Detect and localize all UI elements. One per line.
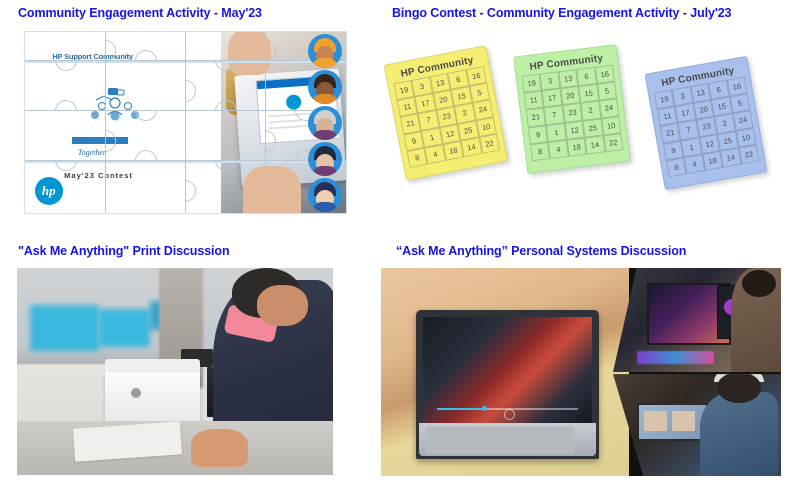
avatar-bearded-man [308, 70, 342, 104]
panel-ask-me-anything-personal-systems: “Ask Me Anything” Personal Systems Discu… [396, 244, 686, 258]
bingo-card-yellow: HP Community 19 3 13 6 16 11 17 20 15 5 … [384, 45, 509, 181]
avatar-dark-bob-woman [308, 178, 342, 212]
bingo-grid: 19 3 13 6 16 11 17 20 15 5 21 7 23 2 24 … [393, 66, 500, 168]
slide-canvas: Community Engagement Activity - May'23 H… [0, 0, 800, 485]
bingo-cell: 22 [603, 133, 623, 152]
bingo-cell: 18 [566, 137, 586, 156]
video-call-monitor [637, 403, 708, 442]
avatar-orange-headscarf [308, 34, 342, 68]
office-partition [30, 305, 100, 351]
panel-ask-me-anything-print: "Ask Me Anything" Print Discussion [18, 244, 230, 258]
video-call-photo [613, 374, 781, 476]
panel-title-print: "Ask Me Anything" Print Discussion [18, 244, 230, 258]
gaming-setup-photo [613, 268, 781, 372]
bingo-card-blue: HP Community 19 3 13 6 16 11 17 20 15 5 … [645, 56, 768, 190]
panel-title-may23: Community Engagement Activity - May'23 [18, 6, 262, 20]
person-face [257, 285, 308, 326]
printer-hp-logo-icon [131, 388, 141, 398]
bingo-cell: 22 [479, 133, 500, 153]
hp-laptop [416, 310, 600, 460]
bingo-cards-group: HP Community 19 3 13 6 16 11 17 20 15 5 … [392, 34, 792, 214]
panel-bingo-contest-july23: Bingo Contest - Community Engagement Act… [392, 6, 731, 20]
laptop-photo [381, 268, 629, 476]
panel-title-personal-systems: “Ask Me Anything” Personal Systems Discu… [396, 244, 686, 258]
gamer-head [742, 270, 776, 297]
bingo-cell: 8 [530, 142, 550, 161]
video-progress-handle[interactable] [482, 406, 487, 411]
remote-worker-head [717, 372, 761, 403]
video-progress-fill [437, 408, 482, 410]
panel-community-engagement-may23: Community Engagement Activity - May'23 H… [18, 6, 262, 20]
bingo-cell: 4 [548, 140, 568, 159]
office-printer-photo [17, 268, 333, 475]
bingo-cell: 22 [738, 144, 759, 164]
office-partition [99, 309, 150, 346]
avatar-grey-hair-senior [308, 106, 342, 140]
bingo-cell: 14 [585, 135, 605, 154]
avatar-black-hair-woman [308, 142, 342, 176]
personal-systems-collage [381, 268, 781, 476]
rgb-keyboard [637, 351, 714, 363]
hp-support-community-puzzle-banner: HP Support Community Together May'23 Con… [24, 31, 347, 214]
panel-title-bingo: Bingo Contest - Community Engagement Act… [392, 6, 731, 20]
hand-on-papers [191, 429, 248, 466]
puzzle-piece-overlay [25, 32, 346, 213]
bingo-grid: 19 3 13 6 16 11 17 20 15 5 21 7 23 2 24 … [654, 77, 760, 178]
laptop-keyboard [419, 423, 595, 456]
bingo-grid: 19 3 13 6 16 11 17 20 15 5 21 7 23 2 24 … [522, 65, 624, 162]
bingo-card-green: HP Community 19 3 13 6 16 11 17 20 15 5 … [513, 44, 631, 174]
avatar-column [306, 32, 344, 213]
remote-worker-person [700, 392, 777, 476]
